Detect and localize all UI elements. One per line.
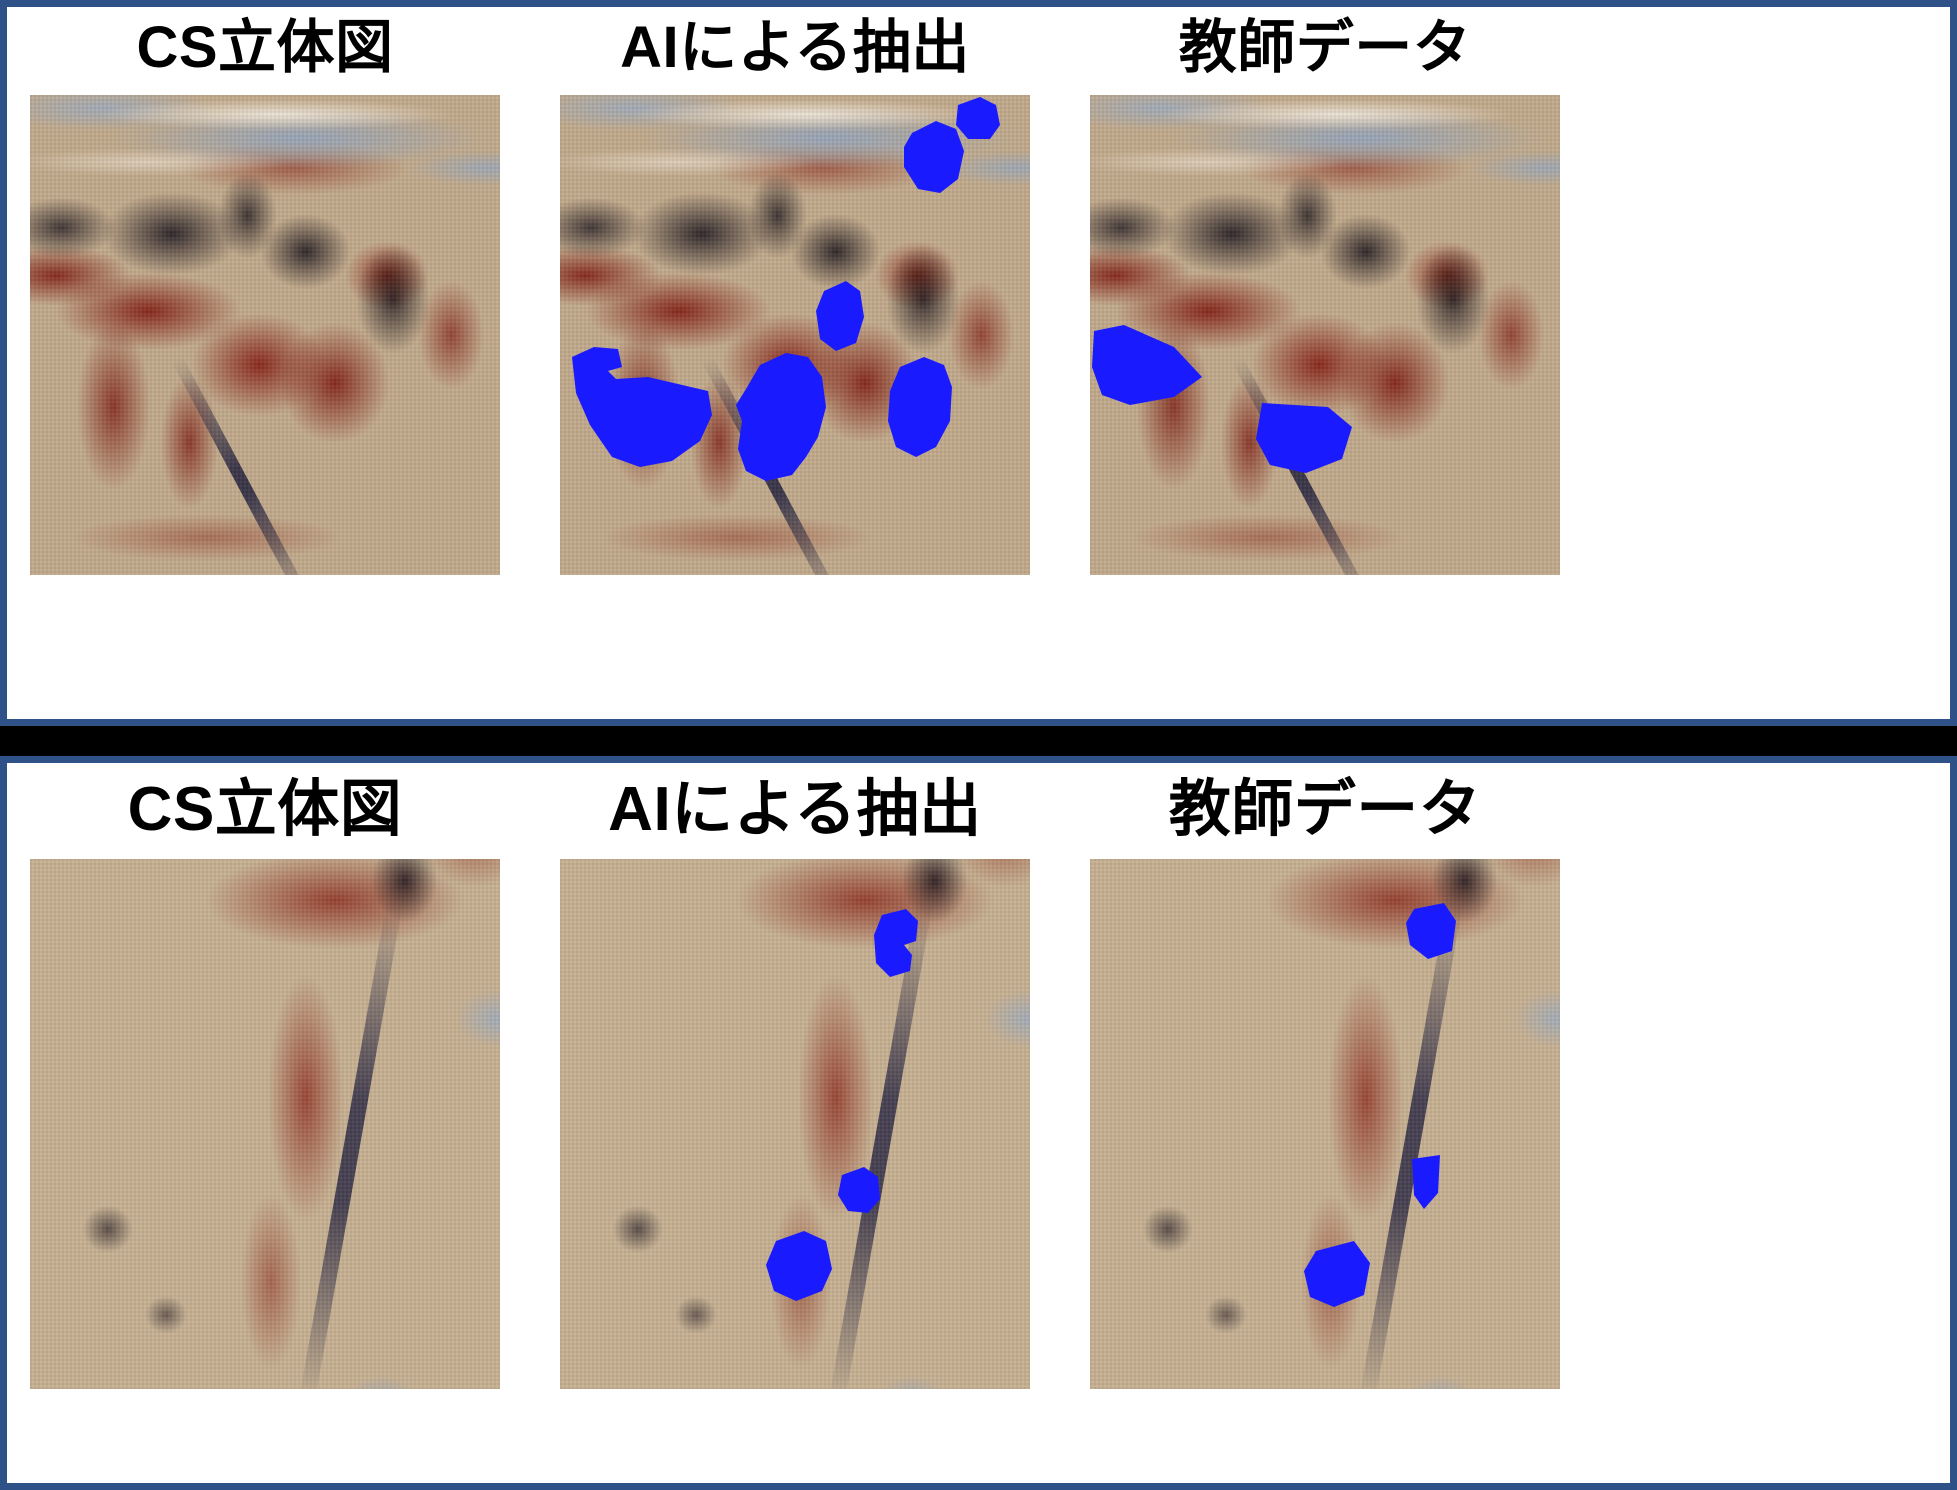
panel-divider [0, 726, 1957, 756]
column-title: AIによる抽出 [555, 7, 1035, 87]
terrain-raster [560, 859, 1030, 1389]
panel-bottom-columns: CS立体図 AIによる抽出 [7, 763, 1950, 1483]
terrain-pixel-noise [30, 95, 500, 575]
training-data-map [1090, 859, 1560, 1389]
terrain-pixel-noise [30, 859, 500, 1389]
terrain-raster [1090, 859, 1560, 1389]
column-title: 教師データ [1085, 7, 1565, 87]
terrain-pixel-noise [1090, 859, 1560, 1389]
terrain-raster [30, 859, 500, 1389]
panel-top-column-training-data: 教師データ [1085, 7, 1565, 575]
terrain-raster [30, 95, 500, 575]
cs-relief-map [30, 95, 500, 575]
panel-bottom: CS立体図 AIによる抽出 [0, 756, 1957, 1490]
column-title: 教師データ [1085, 763, 1565, 853]
cs-relief-map [30, 859, 500, 1389]
figure-root: CS立体図 AIによる抽出 [0, 0, 1957, 1490]
column-title: AIによる抽出 [555, 763, 1035, 853]
column-title: CS立体図 [25, 763, 505, 853]
panel-top-column-ai-extraction: AIによる抽出 [555, 7, 1035, 575]
terrain-pixel-noise [560, 95, 1030, 575]
panel-bottom-column-cs-relief: CS立体図 [25, 763, 505, 1389]
ai-extraction-map [560, 859, 1030, 1389]
ai-extraction-map [560, 95, 1030, 575]
terrain-raster [1090, 95, 1560, 575]
panel-top-columns: CS立体図 AIによる抽出 [7, 7, 1950, 719]
terrain-pixel-noise [560, 859, 1030, 1389]
training-data-map [1090, 95, 1560, 575]
panel-top-column-cs-relief: CS立体図 [25, 7, 505, 575]
panel-bottom-column-ai-extraction: AIによる抽出 [555, 763, 1035, 1389]
panel-top: CS立体図 AIによる抽出 [0, 0, 1957, 726]
panel-bottom-column-training-data: 教師データ [1085, 763, 1565, 1389]
terrain-raster [560, 95, 1030, 575]
terrain-pixel-noise [1090, 95, 1560, 575]
column-title: CS立体図 [25, 7, 505, 87]
